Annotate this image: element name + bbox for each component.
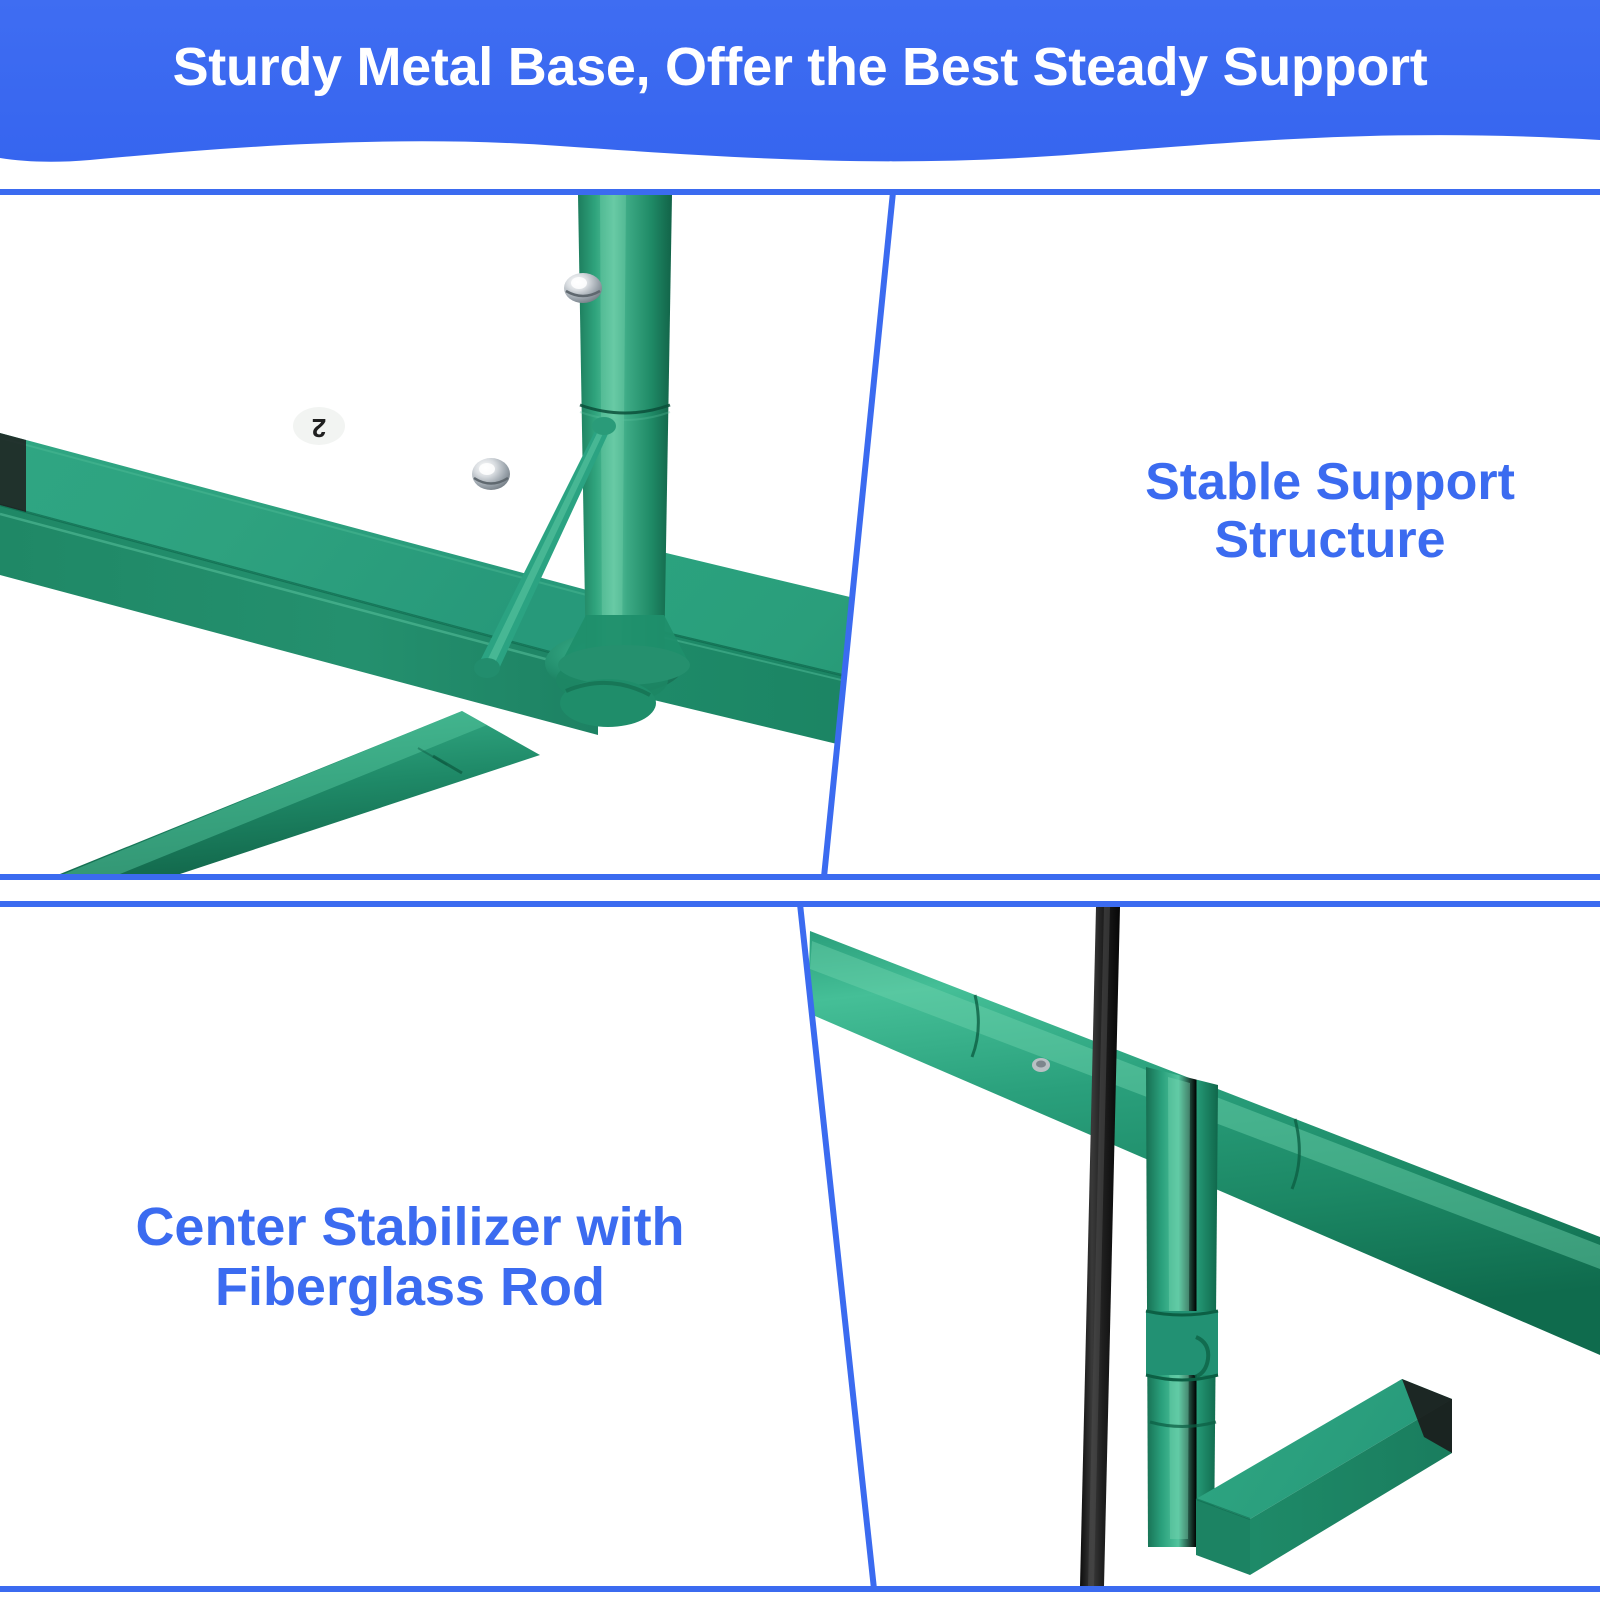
diagonal-accent-line-top [824,195,893,874]
black-fiberglass-rod [1080,907,1120,1586]
panel-stable-support-structure: 2 Stable Support Structure [0,195,1600,874]
green-base-foot [1196,1379,1452,1575]
chrome-bolt-cap-upper [564,273,602,303]
callout-center-stabilizer: Center Stabilizer with Fiberglass Rod [70,1197,750,1318]
lower-joint-weld [560,679,656,727]
sticker-number: 2 [312,413,326,443]
infographic-page: Sturdy Metal Base, Offer the Best Steady… [0,0,1600,1600]
divider-rule-mid-a [0,874,1600,880]
header-banner: Sturdy Metal Base, Offer the Best Steady… [0,0,1600,180]
divider-rule-bottom [0,1586,1600,1592]
callout-line-1: Stable Support [1145,453,1515,511]
chrome-bolt-cap-lower [472,458,510,490]
part-number-sticker: 2 [293,407,345,445]
page-title: Sturdy Metal Base, Offer the Best Steady… [0,38,1600,97]
vertical-support-post [1146,1067,1218,1547]
callout-stable-support: Stable Support Structure [1095,453,1565,569]
lower-round-tube [60,711,540,874]
callout-line-2: Fiberglass Rod [70,1257,750,1317]
panel-center-stabilizer: Center Stabilizer with Fiberglass Rod [0,907,1600,1586]
callout-line-2: Structure [1095,511,1565,569]
callout-line-1: Center Stabilizer with [135,1197,684,1257]
